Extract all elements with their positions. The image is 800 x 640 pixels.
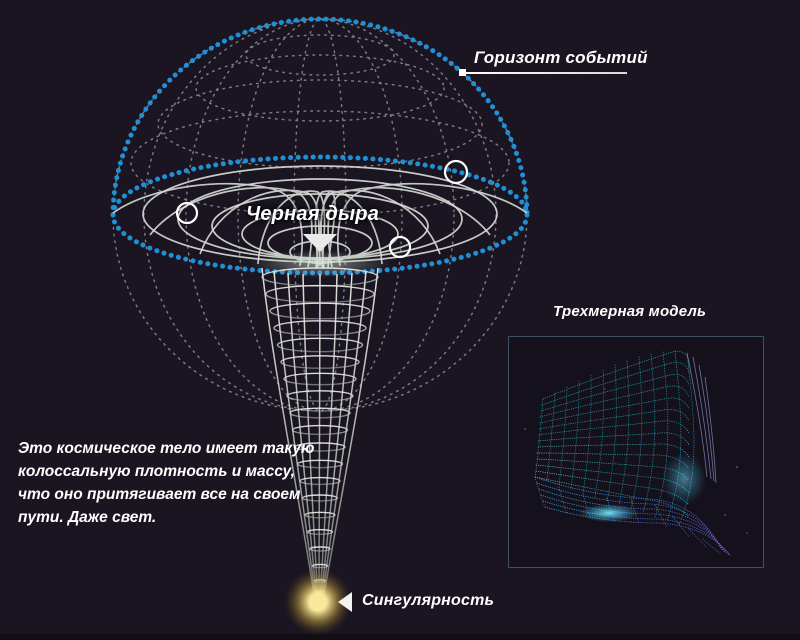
three-d-model-panel [508, 336, 764, 568]
event-horizon-label: Горизонт событий [474, 48, 648, 68]
description-paragraph: Это космическое тело имеет такую колосса… [18, 437, 318, 529]
singularity-core [309, 593, 327, 611]
bottom-edge-strip [0, 634, 800, 640]
throat-glow [248, 250, 392, 278]
three-d-surface-plot [509, 337, 761, 565]
surface-highlight [662, 453, 706, 505]
event-horizon-leader-line [462, 72, 627, 74]
singularity-label: Сингулярность [362, 592, 494, 610]
three-d-model-label: Трехмерная модель [553, 303, 706, 320]
black-hole-label: Черная дыра [246, 203, 379, 226]
infographic-canvas: Горизонт событий Черная дыра Сингулярнос… [0, 0, 800, 640]
surface-highlight [579, 504, 639, 522]
triangle-down-icon [303, 234, 337, 252]
triangle-left-icon [338, 592, 352, 612]
